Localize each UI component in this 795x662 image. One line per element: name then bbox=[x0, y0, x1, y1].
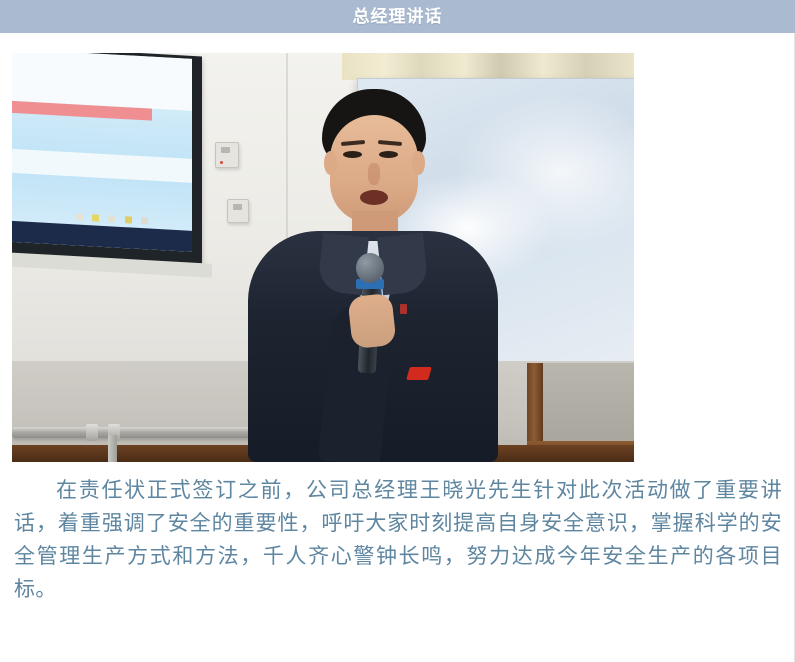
screen-desktop-icon bbox=[141, 217, 148, 224]
jacket-logo-icon bbox=[406, 367, 432, 380]
screen-taskbar bbox=[12, 221, 192, 252]
projection-screen-display bbox=[12, 53, 192, 252]
door-panel bbox=[543, 363, 634, 441]
jacket-logo-small bbox=[400, 304, 407, 314]
pipe-joint bbox=[86, 424, 98, 441]
screen-band-mid bbox=[12, 149, 192, 182]
speaker-ear-right bbox=[412, 151, 425, 175]
screen-desktop-icon bbox=[76, 213, 83, 220]
article-body-text: 在责任状正式签订之前，公司总经理王晓光先生针对此次活动做了重要讲话，着重强调了安… bbox=[14, 474, 782, 606]
speaker-hand bbox=[347, 293, 396, 349]
screen-desktop-icon bbox=[125, 216, 132, 223]
screen-desktop-icon bbox=[92, 214, 99, 221]
switch-slot bbox=[221, 147, 230, 153]
projection-screen bbox=[12, 53, 202, 268]
wall-switch-plate bbox=[215, 142, 239, 168]
photo-canvas bbox=[12, 53, 634, 462]
page-title: 总经理讲话 bbox=[353, 8, 443, 25]
page-header: 总经理讲话 bbox=[0, 0, 795, 33]
speaker-eye-right bbox=[379, 151, 398, 158]
wall-socket-plate bbox=[227, 199, 249, 223]
pipe-vertical bbox=[108, 435, 117, 462]
microphone-head-icon bbox=[356, 253, 384, 283]
speaker-eye-left bbox=[343, 151, 362, 158]
speaker-ear-left bbox=[324, 151, 337, 175]
speaker-mouth bbox=[360, 190, 388, 205]
switch-led-icon bbox=[220, 161, 223, 164]
article-photo bbox=[12, 53, 634, 462]
socket-slot bbox=[233, 204, 242, 210]
article-page: 总经理讲话 bbox=[0, 0, 795, 662]
speaker-nose bbox=[368, 163, 380, 185]
speaker-figure bbox=[248, 89, 498, 462]
ceiling-strip bbox=[342, 53, 634, 80]
screen-desktop-icon bbox=[108, 215, 115, 222]
